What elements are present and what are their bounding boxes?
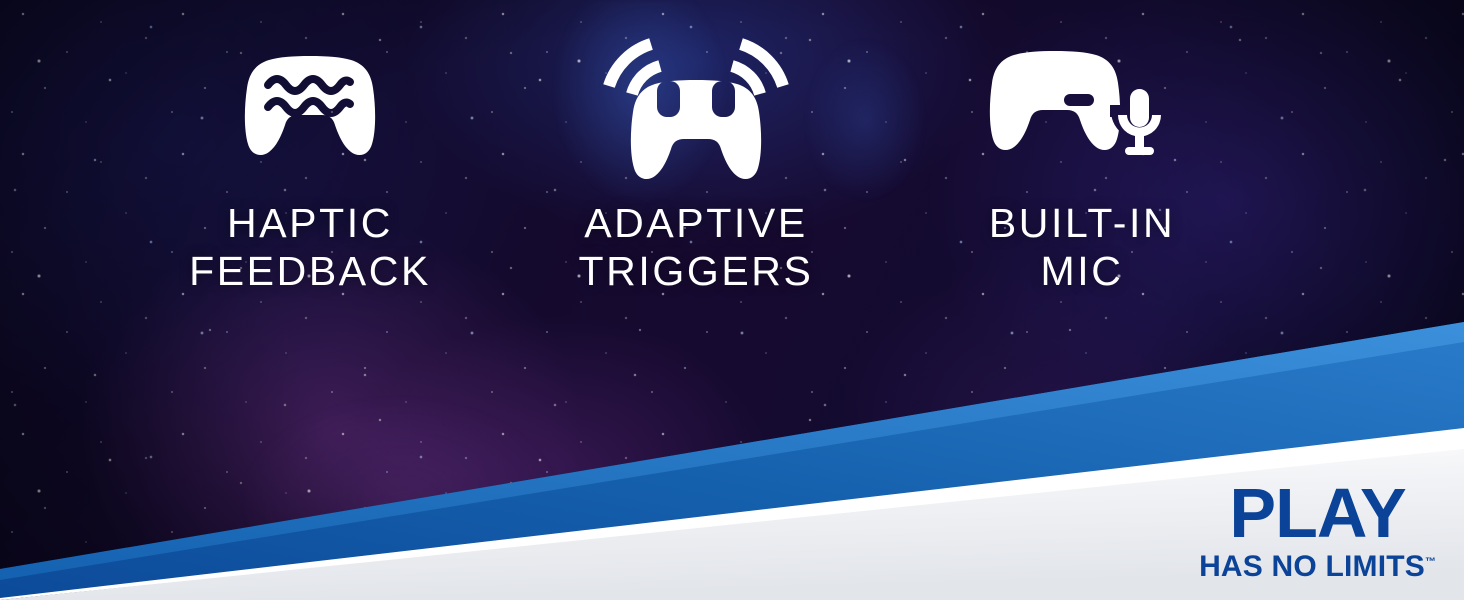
logo-tagline-text: HAS NO LIMITS bbox=[1199, 550, 1425, 583]
feature-haptic-feedback: HAPTIC FEEDBACK bbox=[150, 10, 470, 295]
trademark-symbol: ™ bbox=[1425, 556, 1436, 568]
feature-row: HAPTIC FEEDBACK bbox=[0, 10, 1464, 295]
logo-wordmark-play: PLAY bbox=[1199, 481, 1436, 545]
feature-adaptive-triggers: ADAPTIVE TRIGGERS bbox=[536, 10, 856, 295]
feature-built-in-mic: BUILT-IN MIC bbox=[922, 10, 1242, 295]
controller-microphone-icon bbox=[982, 10, 1182, 200]
feature-label-built-in-mic: BUILT-IN MIC bbox=[989, 200, 1175, 295]
playstation-feature-banner: HAPTIC FEEDBACK bbox=[0, 0, 1464, 600]
controller-adaptive-triggers-icon bbox=[596, 10, 796, 200]
feature-label-haptic-feedback: HAPTIC FEEDBACK bbox=[189, 200, 431, 295]
feature-label-adaptive-triggers: ADAPTIVE TRIGGERS bbox=[579, 200, 814, 295]
logo-tagline: HAS NO LIMITS™ bbox=[1199, 552, 1436, 582]
play-has-no-limits-logo: PLAY HAS NO LIMITS™ bbox=[1199, 481, 1436, 582]
controller-haptic-waves-icon bbox=[235, 10, 385, 200]
microphone-glyph bbox=[1118, 89, 1161, 155]
